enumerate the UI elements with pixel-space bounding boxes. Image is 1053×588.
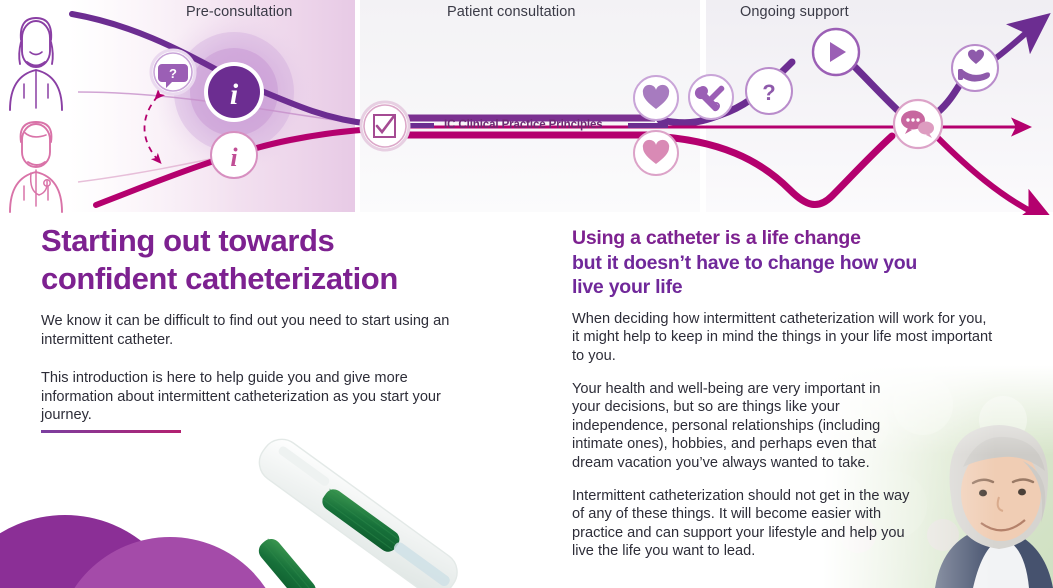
play-icon — [813, 29, 859, 75]
column-label-ongoing-support: Ongoing support — [740, 4, 849, 20]
svg-text:i: i — [230, 78, 239, 111]
journey-graphic: ? i i — [0, 0, 1053, 215]
question-chat-icon: ? — [151, 50, 195, 94]
question-icon: ? — [746, 68, 792, 114]
checkbox-icon — [361, 102, 409, 150]
column-label-patient-consultation: Patient consultation — [447, 4, 576, 20]
section-divider-rule — [41, 430, 181, 433]
section-heading: Using a catheter is a life change but it… — [572, 226, 1002, 300]
patient-figure-icon — [10, 18, 62, 110]
purple-circle-front — [55, 537, 285, 588]
heart-icon-upper — [634, 76, 678, 120]
ic-clinical-practice-principles-label: IC Clinical Practice Principles — [444, 119, 603, 131]
patient-journey-diagram: ? i i — [0, 0, 1053, 215]
section-paragraph-1: When deciding how intermittent catheteri… — [572, 310, 997, 366]
life-change-text-block: Using a catheter is a life change but it… — [572, 226, 1002, 575]
page-title: Starting out towards confident catheteri… — [41, 222, 511, 298]
clinician-figure-icon — [10, 122, 62, 212]
hand-heart-icon — [952, 45, 998, 91]
svg-text:?: ? — [169, 66, 177, 81]
intro-paragraph-2: This introduction is here to help guide … — [41, 369, 451, 425]
info-icon-outline: i — [211, 132, 257, 178]
wrench-tools-icon — [689, 75, 733, 119]
section-paragraph-2: Your health and well-being are very impo… — [572, 380, 912, 473]
svg-text:?: ? — [762, 80, 775, 105]
label-dash-left — [408, 123, 434, 128]
section-paragraph-3: Intermittent catheterization should not … — [572, 487, 912, 561]
info-icon-filled: i — [204, 62, 264, 122]
intro-text-block: Starting out towards confident catheteri… — [41, 222, 511, 445]
svg-text:i: i — [230, 143, 238, 172]
section-heading-line3: live your life — [572, 275, 1002, 300]
page-title-line2: confident catheterization — [41, 260, 511, 298]
chat-icon — [894, 100, 942, 148]
purple-circle-back — [0, 515, 190, 588]
intro-paragraph-1: We know it can be difficult to find out … — [41, 312, 451, 349]
heart-icon-lower — [634, 131, 678, 175]
section-heading-line2: but it doesn’t have to change how you — [572, 251, 1002, 276]
label-dash-right — [628, 123, 668, 128]
catheter-product-image — [215, 425, 505, 588]
section-heading-line1: Using a catheter is a life change — [572, 226, 1002, 251]
column-label-pre-consultation: Pre-consultation — [186, 4, 292, 20]
page-title-line1: Starting out towards — [41, 223, 334, 258]
